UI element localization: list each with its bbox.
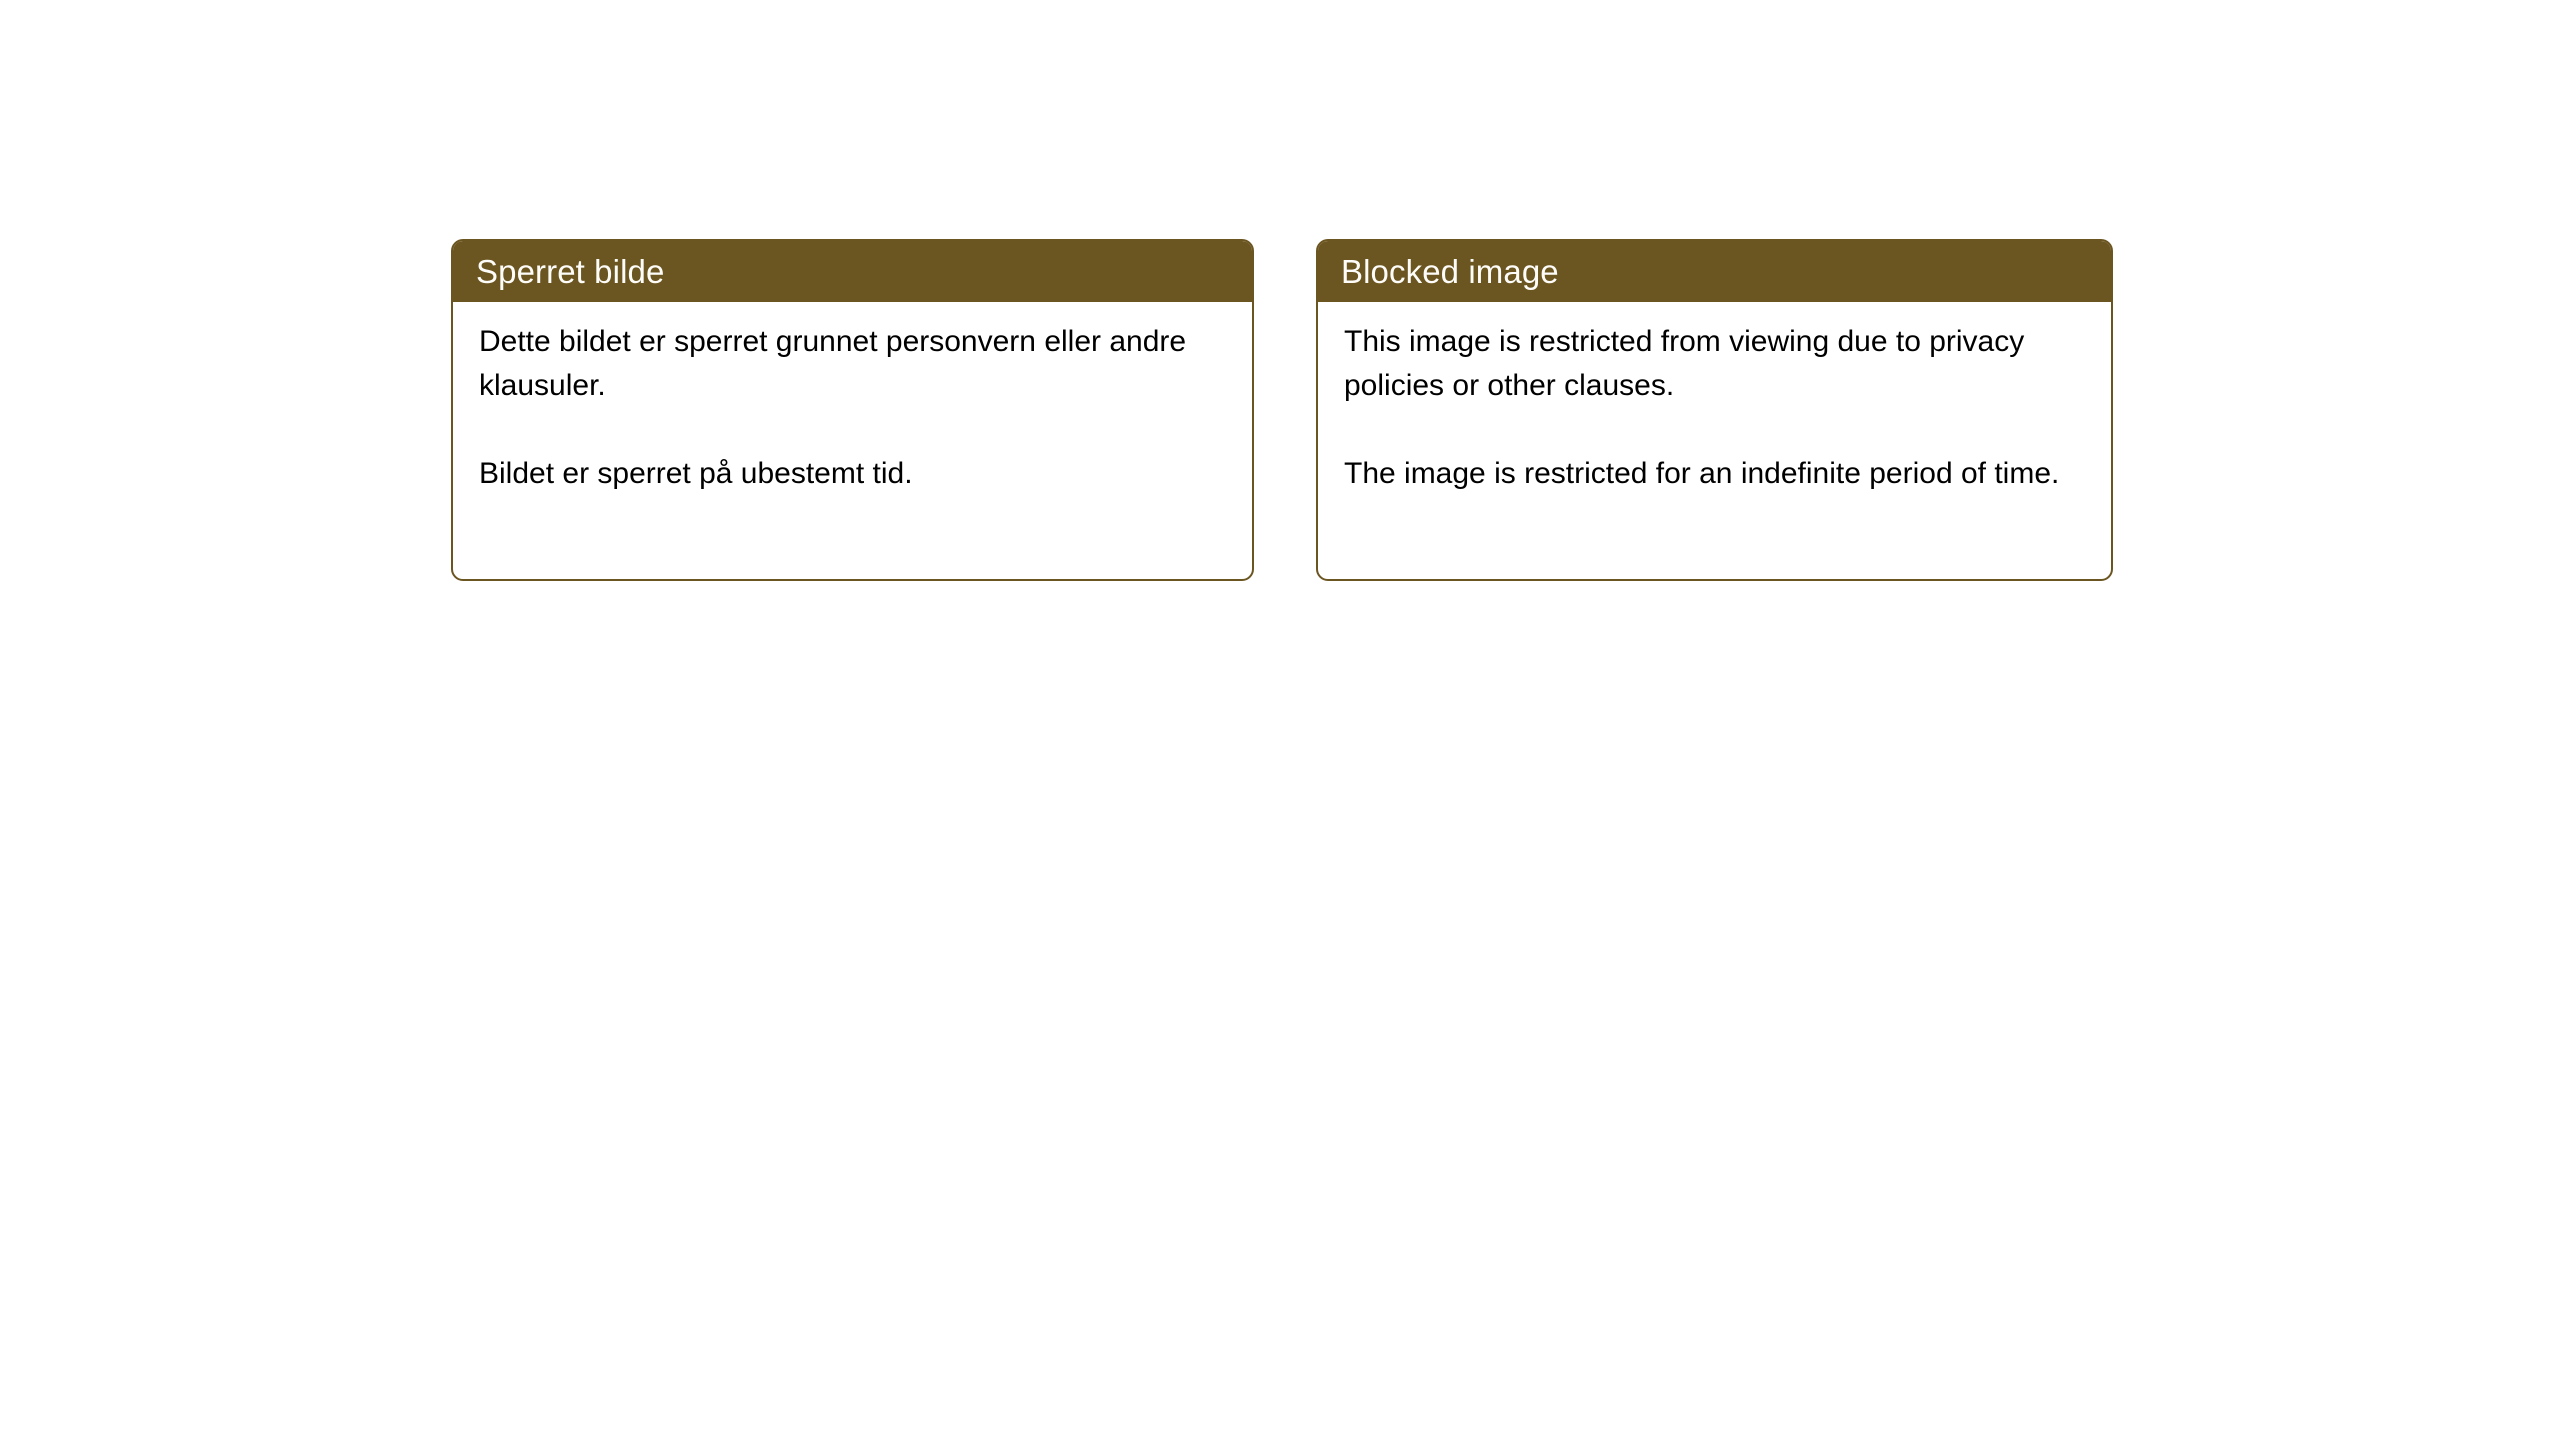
notice-header-en: Blocked image [1318, 241, 2111, 302]
notice-title-nb: Sperret bilde [476, 255, 664, 288]
notice-title-en: Blocked image [1341, 255, 1559, 288]
notice-body-nb: Dette bildet er sperret grunnet personve… [453, 302, 1252, 579]
notice-body-en: This image is restricted from viewing du… [1318, 302, 2111, 579]
notice-paragraph-reason-nb: Dette bildet er sperret grunnet personve… [479, 320, 1226, 408]
blocked-image-notice-area: Sperret bilde Dette bildet er sperret gr… [451, 239, 2113, 581]
notice-header-nb: Sperret bilde [453, 241, 1252, 302]
notice-paragraph-duration-en: The image is restricted for an indefinit… [1344, 452, 2085, 496]
blocked-image-notice-card-en: Blocked image This image is restricted f… [1316, 239, 2113, 581]
notice-paragraph-duration-nb: Bildet er sperret på ubestemt tid. [479, 452, 1226, 496]
blocked-image-notice-card-nb: Sperret bilde Dette bildet er sperret gr… [451, 239, 1254, 581]
notice-paragraph-reason-en: This image is restricted from viewing du… [1344, 320, 2085, 408]
